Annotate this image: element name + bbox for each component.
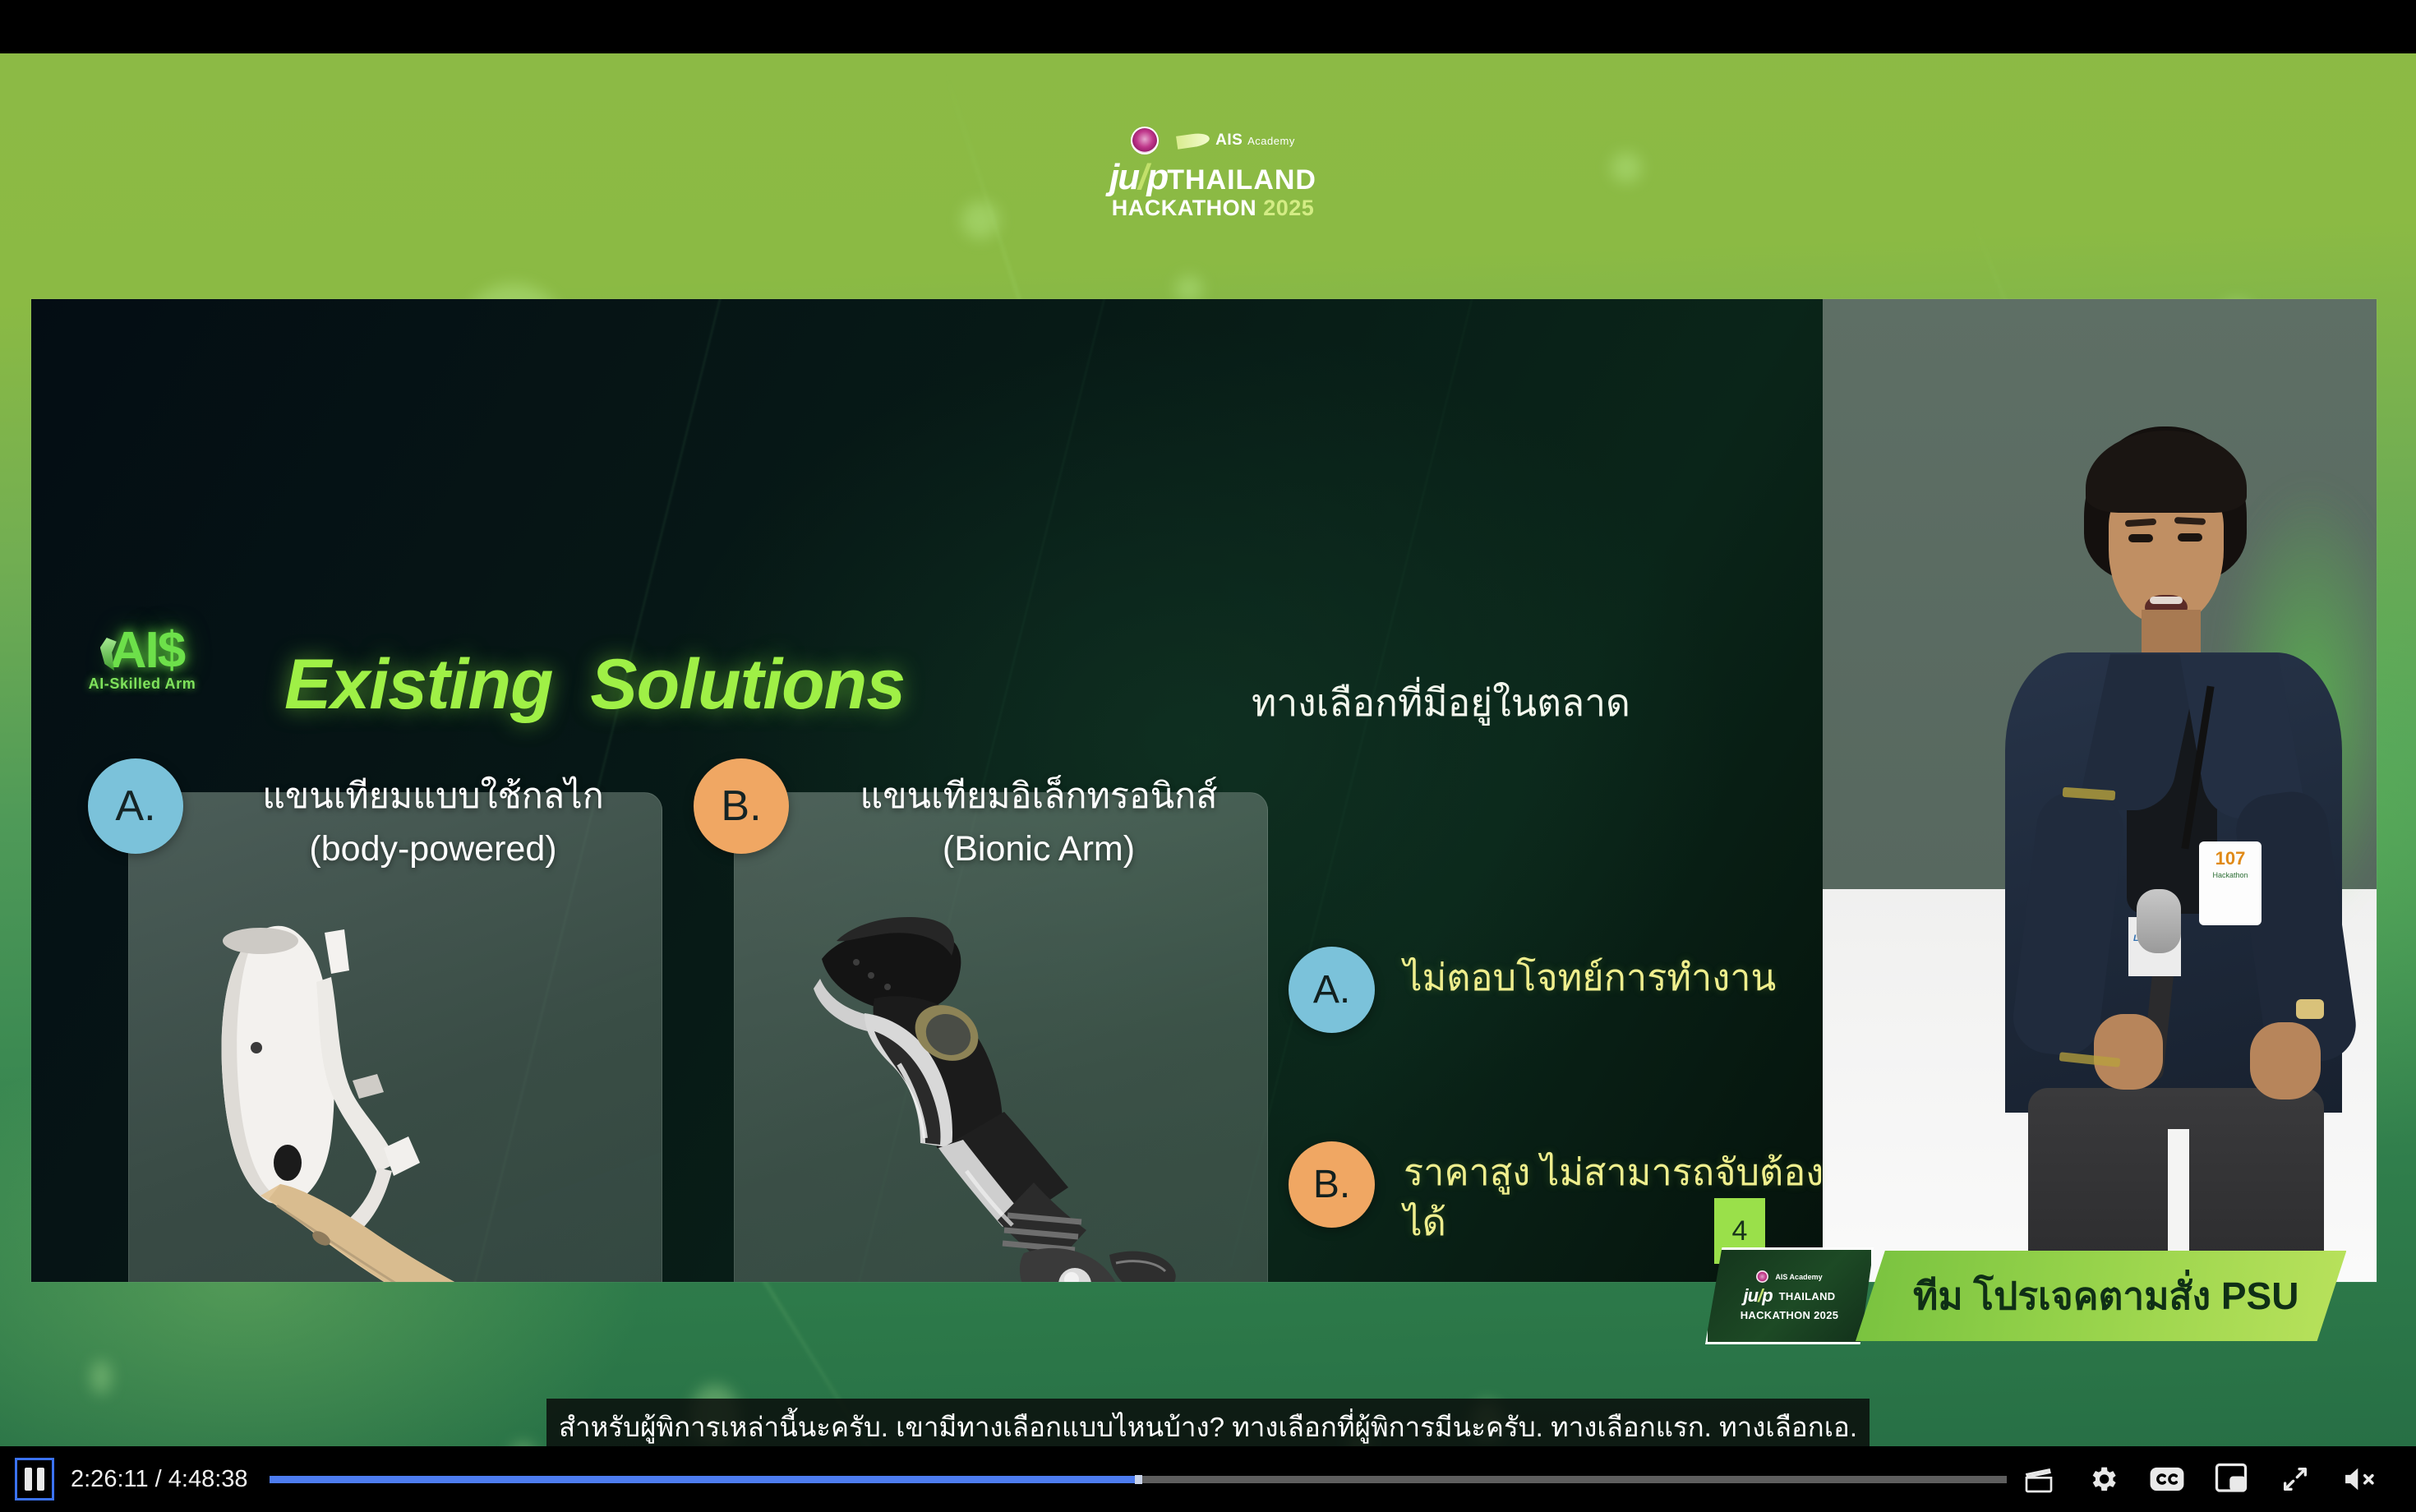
hackathon-year: 2025 (1263, 196, 1314, 220)
option-a-title-th: แขนเทียมแบบใช้กลไก (203, 775, 663, 818)
slide-title: Existing Solutions (284, 644, 905, 726)
settings-gear-icon (2086, 1463, 2119, 1496)
control-icon-group (2007, 1446, 2391, 1512)
progress-bar[interactable] (270, 1476, 2007, 1483)
ais-brand-subtext: AI-Skilled Arm (81, 675, 204, 693)
letterbox-top (0, 0, 2416, 53)
psu-seal-icon (1131, 127, 1159, 154)
ais-academy-label: Academy (1247, 135, 1295, 147)
exit-fullscreen-icon (2279, 1463, 2312, 1496)
option-b-badge: B. (694, 758, 789, 854)
slide-subtitle-thai: ทางเลือกที่มีอยู่ในตลาด (1252, 673, 1630, 733)
caption-text: สำหรับผู้พิการเหล่านี้นะครับ. เขามีทางเล… (559, 1405, 1857, 1449)
option-b-title-th: แขนเทียมอิเล็กทรอนิกส์ (809, 775, 1269, 818)
captions-button[interactable] (2135, 1446, 2199, 1512)
ai-skilled-arm-logo: AI$ AI-Skilled Arm (81, 628, 204, 693)
lt-ais-label: AIS Academy (1775, 1273, 1822, 1281)
clip-button[interactable] (2007, 1446, 2071, 1512)
ais-brand-text: AI$ (110, 622, 184, 679)
team-name-banner: ทีม โปรเจคตามสั่ง PSU (1856, 1251, 2346, 1341)
presentation-slide: AI$ AI-Skilled Arm Existing Solutions ทา… (31, 299, 2377, 1282)
drawback-a-text: ไม่ตอบโจทย์การทำงาน (1404, 953, 1831, 1003)
video-player: AIS Academy ju/pTHAILAND HACKATHON 2025 … (0, 0, 2416, 1512)
thailand-label: THAILAND (1167, 164, 1316, 196)
video-control-bar: 2:26:11 / 4:48:38 (0, 1446, 2416, 1512)
progress-bar-fill (270, 1476, 1135, 1483)
drawback-a-badge: A. (1289, 947, 1375, 1033)
mute-button[interactable] (2327, 1446, 2391, 1512)
settings-button[interactable] (2071, 1446, 2135, 1512)
pause-button[interactable] (15, 1458, 54, 1500)
volume-muted-icon (2341, 1463, 2377, 1496)
drawback-b-text: ราคาสูง ไม่สามารถจับต้องได้ (1404, 1148, 1831, 1248)
presenter-video-inset: LIFE 107Hackathon (1823, 299, 2377, 1282)
option-b-image (735, 916, 1269, 1282)
ais-label: AIS (1215, 131, 1243, 149)
lower-third-event-logo: AIS Academy ju/p THAILAND HACKATHON 2025 (1705, 1247, 1874, 1344)
option-a-image (129, 916, 663, 1282)
clip-icon (2022, 1463, 2055, 1496)
miniplayer-icon (2214, 1463, 2248, 1496)
jump-logo-text: ju/p (1109, 157, 1167, 197)
option-card-a: A. แขนเทียมแบบใช้กลไก (body-powered) (128, 792, 662, 1282)
lt-psu-seal-icon (1756, 1270, 1768, 1283)
hackathon-label: HACKATHON (1112, 196, 1256, 220)
exit-fullscreen-button[interactable] (2263, 1446, 2327, 1512)
time-display: 2:26:11 / 4:48:38 (71, 1466, 248, 1493)
lower-third-banner: AIS Academy ju/p THAILAND HACKATHON 2025… (1705, 1247, 2346, 1345)
option-b-title-en: (Bionic Arm) (809, 827, 1269, 870)
option-card-b: B. แขนเทียมอิเล็กทรอนิกส์ (Bionic Arm) (734, 792, 1268, 1282)
option-a-badge: A. (88, 758, 183, 854)
ais-academy-logo: AIS Academy (1177, 131, 1295, 150)
progress-bar-handle[interactable] (1135, 1475, 1142, 1484)
closed-captions-icon (2149, 1463, 2185, 1496)
lt-hackathon-label: HACKATHON 2025 (1741, 1309, 1839, 1321)
miniplayer-button[interactable] (2199, 1446, 2263, 1512)
event-logo-header: AIS Academy ju/pTHAILAND HACKATHON 2025 (1049, 123, 1377, 205)
drawback-b-badge: B. (1289, 1141, 1375, 1228)
option-a-title-en: (body-powered) (203, 827, 663, 870)
lt-thailand-label: THAILAND (1779, 1290, 1836, 1302)
ais-swoosh-icon (1176, 131, 1210, 149)
